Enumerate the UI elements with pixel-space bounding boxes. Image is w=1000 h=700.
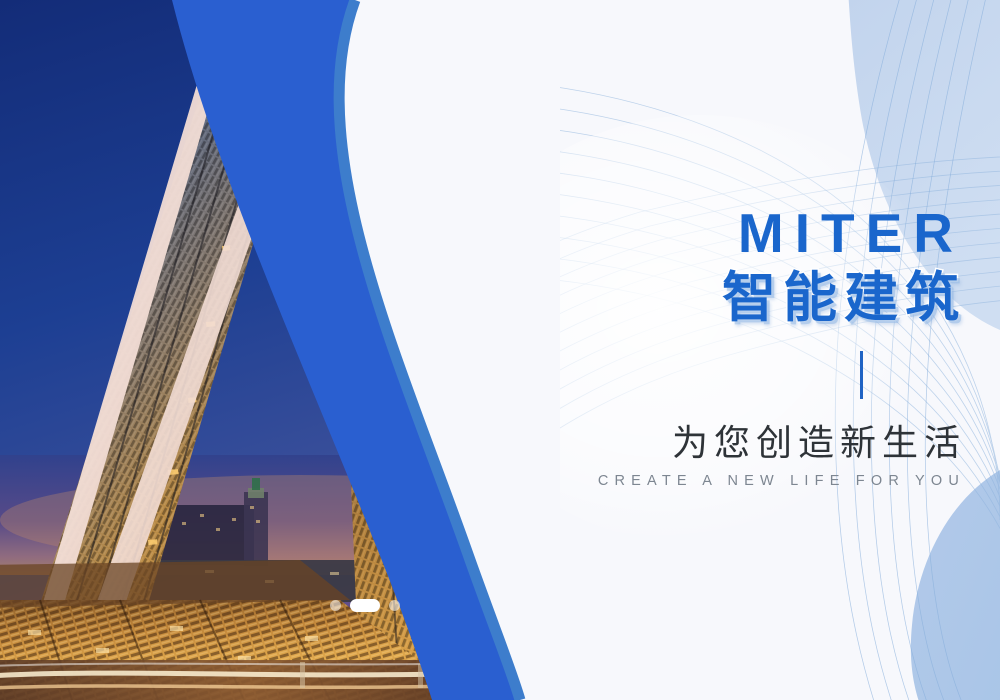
hero-banner: MITER 智能建筑 为您创造新生活 CREATE A NEW LIFE FOR… xyxy=(0,0,1000,700)
banner-text-block: MITER 智能建筑 为您创造新生活 CREATE A NEW LIFE FOR… xyxy=(548,205,968,489)
brand-name: MITER xyxy=(548,205,968,261)
hero-photo-image xyxy=(0,0,560,700)
hero-photo xyxy=(0,0,560,700)
tagline-english: CREATE A NEW LIFE FOR YOU xyxy=(548,473,968,489)
carousel-dot-2-active[interactable] xyxy=(350,599,380,612)
tagline-chinese: 为您创造新生活 xyxy=(548,421,968,464)
headline-chinese: 智能建筑 xyxy=(548,267,968,329)
accent-divider xyxy=(860,351,863,399)
carousel-dot-1[interactable] xyxy=(330,600,341,611)
carousel-dot-3[interactable] xyxy=(389,600,400,611)
carousel-indicators[interactable] xyxy=(330,599,400,612)
divider-row xyxy=(548,351,968,399)
